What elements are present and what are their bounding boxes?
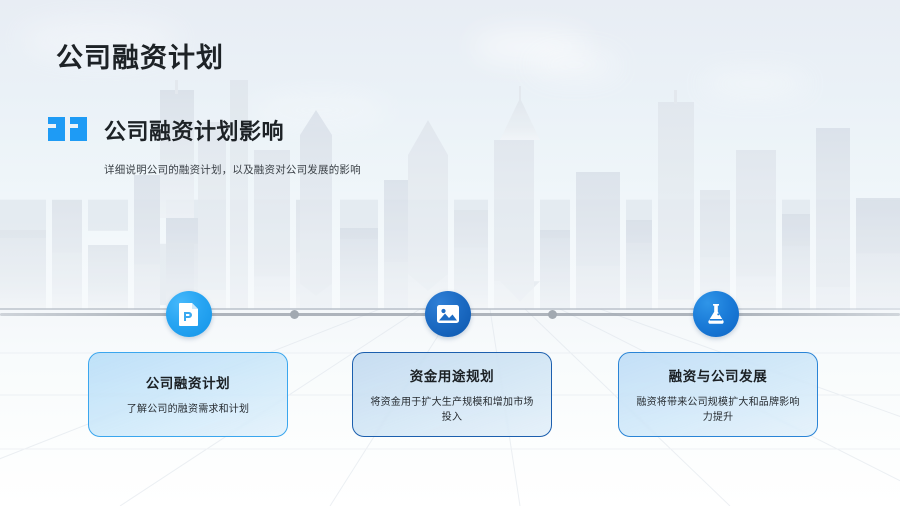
card-1[interactable]: 公司融资计划 了解公司的融资需求和计划 xyxy=(88,352,288,437)
card-description: 了解公司的融资需求和计划 xyxy=(127,402,249,417)
page-title: 公司融资计划 xyxy=(56,36,224,75)
section-description: 详细说明公司的融资计划，以及融资对公司发展的影响 xyxy=(104,162,361,177)
image-picture-icon xyxy=(436,303,460,325)
card-description: 融资将带来公司规模扩大和品牌影响力提升 xyxy=(634,395,802,425)
card-2[interactable]: 资金用途规划 将资金用于扩大生产规模和增加市场投入 xyxy=(352,352,552,437)
timeline-node-3[interactable] xyxy=(693,291,739,337)
section-heading: 公司融资计划影响 xyxy=(104,114,284,146)
card-title: 融资与公司发展 xyxy=(669,365,768,385)
timeline-dot xyxy=(548,310,557,319)
timeline-node-2[interactable] xyxy=(425,291,471,337)
slide-canvas: 公司融资计划 公司融资计划影响 详细说明公司的融资计划，以及融资对公司发展的影响 xyxy=(0,0,900,506)
cloud-decoration xyxy=(470,30,590,64)
card-3[interactable]: 融资与公司发展 融资将带来公司规模扩大和品牌影响力提升 xyxy=(618,352,818,437)
quote-mark-icon xyxy=(47,110,91,150)
flask-lab-icon xyxy=(705,302,727,326)
cloud-decoration xyxy=(530,52,620,78)
card-title: 资金用途规划 xyxy=(410,365,495,385)
timeline-dot xyxy=(290,310,299,319)
document-presentation-icon xyxy=(178,302,200,326)
cloud-decoration xyxy=(700,72,810,96)
card-description: 将资金用于扩大生产规模和增加市场投入 xyxy=(368,395,536,425)
timeline-node-1[interactable] xyxy=(166,291,212,337)
card-title: 公司融资计划 xyxy=(146,372,231,392)
